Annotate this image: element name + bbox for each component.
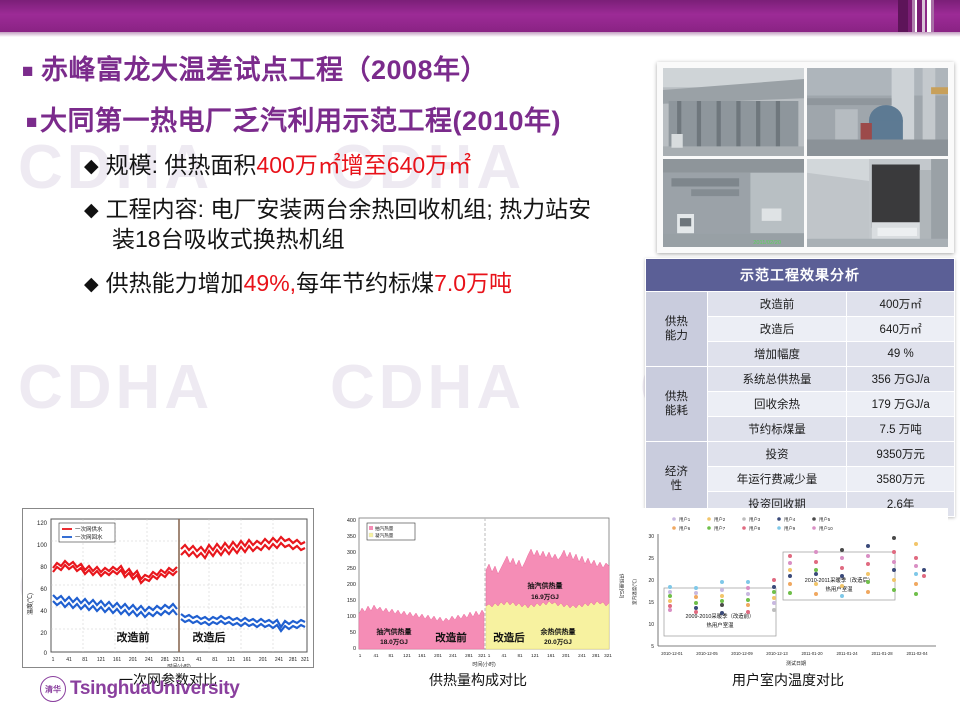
chart1-plot: 12010080 604020 0 温度(℃) [22, 508, 314, 668]
svg-text:400: 400 [347, 518, 356, 524]
chart2-label-after: 改造后 [493, 631, 525, 644]
bullet-item-scale: ◆规模: 供热面积400万㎡增至640万㎡ [0, 151, 640, 181]
table-cell-label: 改造后 [707, 317, 846, 342]
chart3-legend-3: 用户3 [749, 516, 761, 523]
diamond-bullet-icon: ◆ [84, 156, 99, 177]
chart3-svg: 用户1 用户2 用户3 用户4 用户5 用户6 用户7 用户8 用户9 用户10… [628, 508, 948, 668]
chart1-legend-1: 一次网供水 [75, 525, 103, 533]
svg-text:81: 81 [212, 657, 218, 663]
svg-text:201: 201 [434, 653, 442, 658]
turbine-hall-photo [807, 68, 948, 156]
svg-text:120: 120 [37, 521, 48, 527]
svg-text:350: 350 [347, 534, 356, 540]
svg-text:80: 80 [40, 565, 47, 571]
table-row: 经济性投资9350万元 [646, 442, 955, 467]
table-cell-value: 3580万元 [847, 467, 955, 492]
svg-text:161: 161 [547, 653, 555, 658]
chart-heat-composition: 400350300 250200150 100500 供热量(GJ) 抽汽热量 … [332, 508, 624, 690]
table-cell-label: 年运行费减少量 [707, 467, 846, 492]
top-banner [0, 0, 960, 32]
svg-text:1: 1 [182, 657, 185, 663]
svg-text:2010-12-01: 2010-12-01 [661, 651, 683, 656]
svg-text:时间(小时): 时间(小时) [472, 661, 496, 668]
chart2-label-before-value: 18.0万GJ [380, 638, 408, 646]
bullet-item-content: ◆工程内容: 电厂安装两台余热回收机组; 热力站安装18台吸收式换热机组 [0, 195, 640, 255]
chart-indoor-temperature: 用户1 用户2 用户3 用户4 用户5 用户6 用户7 用户8 用户9 用户10… [628, 508, 948, 690]
bullet-square-icon: ■ [22, 61, 34, 82]
chart2-label-after-waste-name: 余热供热量 [540, 627, 576, 636]
svg-text:241: 241 [275, 657, 284, 663]
chart2-label-after-waste-value: 20.0万GJ [544, 638, 572, 646]
svg-text:200: 200 [347, 582, 356, 588]
project-photo-collage: 2011/02/20 [657, 62, 954, 253]
svg-text:100: 100 [37, 543, 48, 549]
svg-text:2011-01-20: 2011-01-20 [801, 651, 823, 656]
bullet-capacity-prefix: 供热能力增加 [106, 270, 244, 296]
svg-text:41: 41 [196, 657, 202, 663]
chart2-svg: 400350300 250200150 100500 供热量(GJ) 抽汽热量 … [332, 508, 624, 668]
svg-text:2011-01-24: 2011-01-24 [836, 651, 858, 656]
chart3-legend-10: 用户10 [819, 525, 833, 532]
table-body: 供热能力改造前400万㎡改造后640万㎡增加幅度49 %供热能耗系统总供热量35… [646, 292, 955, 517]
svg-text:281: 281 [289, 657, 298, 663]
svg-text:20: 20 [40, 631, 47, 637]
svg-text:1: 1 [52, 657, 55, 663]
chart2-label-before-name: 抽汽供热量 [377, 627, 412, 636]
heading-level1-text: 赤峰富龙大温差试点工程（2008年） [41, 55, 488, 85]
table-group-label: 经济性 [646, 442, 708, 517]
bullet-capacity-highlight2: 7.0万吨 [434, 270, 512, 296]
chart3-legend-1: 用户1 [679, 516, 691, 523]
table-group-label: 供热能耗 [646, 367, 708, 442]
banner-stripe-1 [898, 0, 908, 32]
svg-text:1: 1 [359, 653, 362, 658]
chart3-legend-4: 用户4 [784, 516, 796, 523]
svg-text:321: 321 [604, 653, 612, 658]
diamond-bullet-icon-3: ◆ [84, 274, 99, 295]
svg-text:供热量(GJ): 供热量(GJ) [618, 574, 624, 599]
tsinghua-logo: 清华 TsinghuaUniversity [40, 676, 240, 702]
chart2-label-after-steam-value: 16.9万GJ [531, 593, 559, 601]
plant-exterior-photo [663, 68, 804, 156]
table-cell-label: 系统总供热量 [707, 367, 846, 392]
svg-text:室内温度(℃): 室内温度(℃) [631, 579, 638, 605]
svg-text:40: 40 [40, 609, 47, 615]
svg-text:121: 121 [227, 657, 236, 663]
chart3-legend-9: 用户9 [784, 525, 796, 532]
svg-text:281: 281 [465, 653, 473, 658]
bullet-square-icon-2: ■ [26, 112, 38, 133]
svg-text:150: 150 [347, 598, 356, 604]
table-cell-value: 356 万GJ/a [847, 367, 955, 392]
svg-text:121: 121 [97, 657, 106, 663]
banner-stripe-9 [931, 0, 934, 32]
svg-text:201: 201 [562, 653, 570, 658]
table-cell-label: 投资 [707, 442, 846, 467]
svg-text:2011-01-28: 2011-01-28 [871, 651, 893, 656]
svg-text:81: 81 [82, 657, 88, 663]
chart2-legend-1: 抽汽热量 [375, 525, 394, 532]
table-cell-value: 9350万元 [847, 442, 955, 467]
svg-text:121: 121 [403, 653, 411, 658]
chart2-caption: 供热量构成对比 [332, 670, 624, 690]
chart3-legend-8: 用户8 [749, 525, 761, 532]
table-row: 供热能力改造前400万㎡ [646, 292, 955, 317]
chart2-label-before: 改造前 [435, 631, 467, 644]
slide-body: ■赤峰富龙大温差试点工程（2008年） ■大同第一热电厂乏汽利用示范工程(201… [0, 36, 640, 506]
chart-primary-network: 12010080 604020 0 温度(℃) [22, 508, 314, 690]
svg-text:41: 41 [373, 653, 379, 658]
svg-text:30: 30 [648, 534, 654, 540]
svg-text:281: 281 [592, 653, 600, 658]
chart1-legend-2: 一次网回水 [75, 533, 103, 541]
table-cell-label: 增加幅度 [707, 342, 846, 367]
bullet-item-capacity: ◆供热能力增加49%,每年节约标煤7.0万吨 [0, 269, 640, 299]
table-cell-value: 49 % [847, 342, 955, 367]
table-title: 示范工程效果分析 [646, 259, 955, 292]
bullet-scale-prefix: 规模: 供热面积 [106, 152, 257, 178]
svg-text:161: 161 [113, 657, 122, 663]
svg-text:81: 81 [388, 653, 394, 658]
heading-level2: ■大同第一热电厂乏汽利用示范工程(2010年) [0, 105, 640, 137]
table-cell-value: 7.5 万吨 [847, 417, 955, 442]
diamond-bullet-icon-2: ◆ [84, 200, 99, 221]
table-cell-value: 640万㎡ [847, 317, 955, 342]
chart3-legend-7: 用户7 [714, 525, 726, 532]
chart3-legend-2: 用户2 [714, 516, 726, 523]
svg-text:250: 250 [347, 566, 356, 572]
bullet-capacity-mid: 每年节约标煤 [296, 270, 434, 296]
effect-analysis-table: 示范工程效果分析 供热能力改造前400万㎡改造后640万㎡增加幅度49 %供热能… [645, 258, 955, 517]
svg-text:241: 241 [449, 653, 457, 658]
chart2-legend-2: 凝汽热量 [375, 532, 394, 539]
chart1-svg: 12010080 604020 0 温度(℃) [23, 509, 314, 668]
chart3-legend-5: 用户5 [819, 516, 831, 523]
svg-text:25: 25 [648, 556, 654, 562]
chart2-plot: 400350300 250200150 100500 供热量(GJ) 抽汽热量 … [332, 508, 624, 668]
chart3-legend-6: 用户6 [679, 525, 691, 532]
svg-text:0: 0 [353, 646, 356, 652]
svg-text:161: 161 [418, 653, 426, 658]
svg-text:10: 10 [648, 622, 654, 628]
chart3-annot-before-2: 热用户室温 [707, 621, 735, 629]
chart1-label-after: 改造后 [193, 630, 226, 644]
svg-text:321: 321 [478, 653, 486, 658]
heading-level1: ■赤峰富龙大温差试点工程（2008年） [0, 54, 640, 87]
svg-text:15: 15 [648, 600, 654, 606]
svg-text:81: 81 [517, 653, 523, 658]
bullet-content-text: 工程内容: 电厂安装两台余热回收机组; 热力站安装18台吸收式换热机组 [106, 196, 592, 252]
bullet-capacity-highlight: 49%, [244, 270, 296, 296]
svg-text:时间(小时): 时间(小时) [167, 663, 191, 668]
svg-text:281: 281 [161, 657, 170, 663]
svg-text:321: 321 [173, 657, 182, 663]
tsinghua-logo-text: TsinghuaUniversity [70, 678, 240, 700]
svg-text:5: 5 [651, 644, 654, 650]
svg-text:300: 300 [347, 550, 356, 556]
svg-text:50: 50 [350, 630, 356, 636]
svg-text:测试日期: 测试日期 [786, 660, 806, 667]
tsinghua-crest-icon: 清华 [40, 676, 66, 702]
svg-text:241: 241 [578, 653, 586, 658]
absorption-unit-photo [807, 159, 948, 247]
svg-text:2011-02-04: 2011-02-04 [906, 651, 928, 656]
banner-stripe-decoration [898, 0, 960, 32]
table-cell-label: 回收余热 [707, 392, 846, 417]
svg-text:41: 41 [501, 653, 507, 658]
heading-level2-text: 大同第一热电厂乏汽利用示范工程(2010年) [40, 106, 561, 136]
chart2-label-after-steam-name: 抽汽供热量 [528, 581, 563, 590]
svg-text:201: 201 [259, 657, 268, 663]
table-cell-value: 179 万GJ/a [847, 392, 955, 417]
chart3-plot: 用户1 用户2 用户3 用户4 用户5 用户6 用户7 用户8 用户9 用户10… [628, 508, 948, 668]
table-cell-label: 改造前 [707, 292, 846, 317]
bullet-scale-highlight: 400万㎡增至640万㎡ [256, 152, 471, 178]
table-group-label: 供热能力 [646, 292, 708, 367]
svg-text:121: 121 [531, 653, 539, 658]
chart3-annot-after-2: 热用户室温 [826, 585, 854, 593]
svg-text:100: 100 [347, 614, 356, 620]
chart1-label-before: 改造前 [117, 630, 150, 644]
svg-text:201: 201 [129, 657, 138, 663]
svg-text:2010-12-13: 2010-12-13 [766, 651, 788, 656]
svg-text:321: 321 [301, 657, 310, 663]
table-row: 供热能耗系统总供热量356 万GJ/a [646, 367, 955, 392]
svg-text:41: 41 [66, 657, 72, 663]
svg-text:161: 161 [243, 657, 252, 663]
svg-text:60: 60 [40, 587, 47, 593]
svg-text:1: 1 [488, 653, 491, 658]
table-cell-value: 400万㎡ [847, 292, 955, 317]
svg-text:2010-12-09: 2010-12-09 [731, 651, 753, 656]
table-cell-label: 节约标煤量 [707, 417, 846, 442]
svg-text:2011/02/20: 2011/02/20 [753, 240, 781, 246]
svg-text:2010-12-05: 2010-12-05 [696, 651, 718, 656]
svg-text:温度(℃): 温度(℃) [26, 593, 34, 615]
heat-station-interior-photo: 2011/02/20 [663, 159, 804, 247]
svg-text:20: 20 [648, 578, 654, 584]
chart3-caption: 用户室内温度对比 [628, 670, 948, 690]
svg-text:241: 241 [145, 657, 154, 663]
